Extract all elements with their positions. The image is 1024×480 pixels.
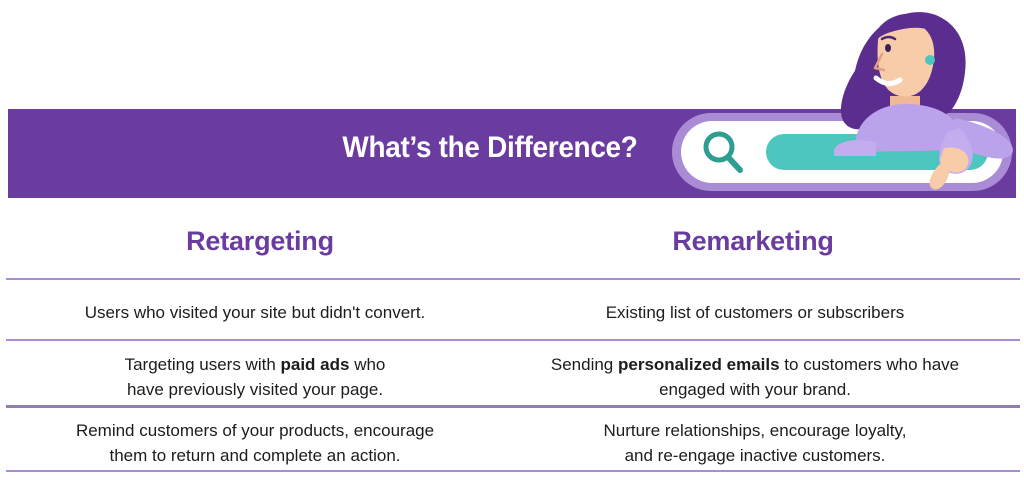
divider-4 [6, 470, 1020, 472]
cell-remarketing-row3: Nurture relationships, encourage loyalty… [520, 418, 990, 468]
cell-text-line2: them to return and complete an action. [109, 446, 400, 465]
cell-text-line1: Nurture relationships, encourage loyalty… [603, 421, 906, 440]
magnifier-icon [700, 129, 746, 175]
divider-1 [6, 278, 1020, 280]
cell-remarketing-row1: Existing list of customers or subscriber… [520, 300, 990, 325]
cell-text-bold: personalized emails [618, 355, 780, 374]
cell-remarketing-row2: Sending personalized emails to customers… [520, 352, 990, 402]
cell-text-line1: Remind customers of your products, encou… [76, 421, 434, 440]
column-header-retargeting: Retargeting [25, 226, 495, 257]
divider-2 [6, 339, 1020, 341]
cell-text: Existing list of customers or subscriber… [606, 303, 905, 322]
divider-3 [6, 405, 1020, 408]
cell-text-line2: and re-engage inactive customers. [625, 446, 886, 465]
cell-text-line2: engaged with your brand. [659, 380, 851, 399]
search-input[interactable] [766, 134, 988, 170]
cell-retargeting-row3: Remind customers of your products, encou… [20, 418, 490, 468]
column-header-remarketing: Remarketing [518, 226, 988, 257]
cell-retargeting-row2: Targeting users with paid ads who have p… [20, 352, 490, 402]
cell-text-pre: Sending [551, 355, 618, 374]
cell-retargeting-row1: Users who visited your site but didn't c… [20, 300, 490, 325]
infographic-root: What’s the Difference? Retargeting Remar… [0, 0, 1024, 480]
cell-text-bold: paid ads [281, 355, 350, 374]
cell-text-line2: have previously visited your page. [127, 380, 383, 399]
cell-text: Users who visited your site but didn't c… [85, 303, 426, 322]
cell-text-post: to customers who have [780, 355, 960, 374]
cell-text-post: who [349, 355, 385, 374]
cell-text-pre: Targeting users with [125, 355, 281, 374]
page-title: What’s the Difference? [313, 131, 666, 165]
